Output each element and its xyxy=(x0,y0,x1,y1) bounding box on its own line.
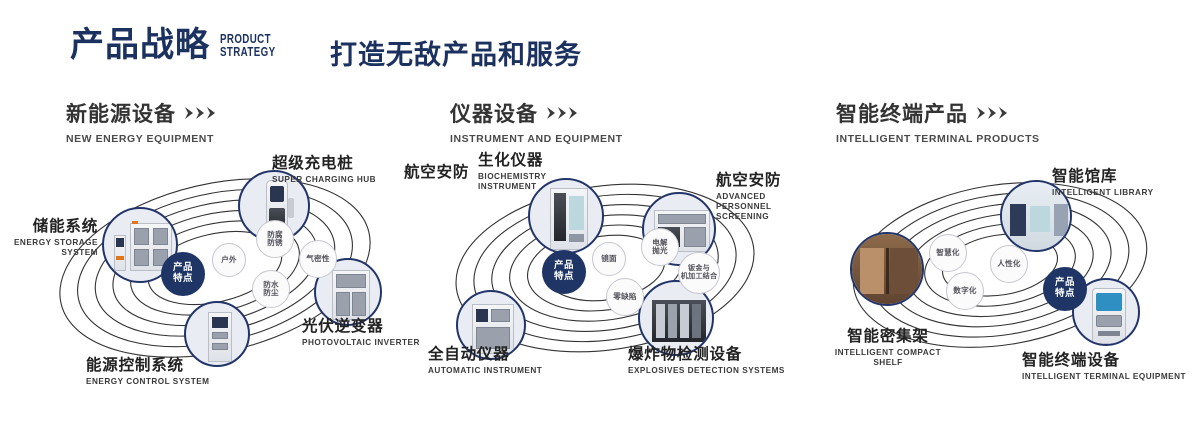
label-energy-control-system: 能源控制系统 ENERGY CONTROL SYSTEM xyxy=(86,357,209,387)
chevron-right-icon xyxy=(977,107,1011,119)
feature-bubble-smart[interactable]: 智慧化 xyxy=(929,234,967,272)
core-bubble-product-features[interactable]: 产品 特点 xyxy=(542,250,586,294)
label-intelligent-library: 智能馆库 INTELLIGENT LIBRARY xyxy=(1052,168,1154,198)
section-heading-new-energy: 新能源设备 NEW ENERGY EQUIPMENT xyxy=(66,98,219,145)
label-advanced-personnel-screening: 航空安防 ADVANCED PERSONNEL SCREENING xyxy=(716,172,820,223)
section-title-en: NEW ENERGY EQUIPMENT xyxy=(66,133,219,145)
intelligent-compact-shelf-photo xyxy=(852,234,922,304)
feature-bubble-waterproof-dustproof[interactable]: 防水 防尘 xyxy=(252,270,290,308)
page-title-en: PRODUCT STRATEGY xyxy=(220,31,275,59)
chevron-right-icon xyxy=(185,107,219,119)
chevron-right-icon xyxy=(547,107,581,119)
energy-control-system-photo xyxy=(186,303,248,365)
feature-bubble-humanized[interactable]: 人性化 xyxy=(990,245,1028,283)
label-biochemistry-instrument: 生化仪器 BIOCHEMISTRY INSTRUMENT xyxy=(478,152,546,192)
feature-bubble-mirror-finish[interactable]: 镜面 xyxy=(592,242,626,276)
section-title-cn: 智能终端产品 xyxy=(836,98,968,128)
section-heading-instrument: 仪器设备 INSTRUMENT AND EQUIPMENT xyxy=(450,98,623,145)
cluster-intelligent-terminal: 智能馆库 INTELLIGENT LIBRARY 智能密集架 INTELLIGE… xyxy=(810,150,1200,380)
section-heading-intelligent-terminal: 智能终端产品 INTELLIGENT TERMINAL PRODUCTS xyxy=(836,98,1040,145)
core-bubble-product-features[interactable]: 产品 特点 xyxy=(1043,267,1087,311)
label-intelligent-compact-shelf: 智能密集架 INTELLIGENT COMPACT SHELF xyxy=(818,328,958,368)
label-intelligent-terminal-equipment: 智能终端设备 INTELLIGENT TERMINAL EQUIPMENT xyxy=(1022,352,1186,382)
feature-bubble-anticorrosion[interactable]: 防腐 防锈 xyxy=(256,220,294,258)
page-header: 产品战略 PRODUCT STRATEGY xyxy=(70,28,291,62)
page-subtitle: 打造无敌产品和服务 xyxy=(330,33,582,72)
feature-bubble-airtightness[interactable]: 气密性 xyxy=(299,240,337,278)
label-energy-storage-system: 储能系统 ENERGY STORAGE SYSTEM xyxy=(0,218,98,258)
label-super-charging-hub: 超级充电桩 SUPER CHARGING HUB xyxy=(272,155,376,185)
feature-bubble-sheetmetal-machining[interactable]: 钣金与 机加工结合 xyxy=(678,252,720,294)
label-aviation-security-left: 航空安防 xyxy=(404,164,469,184)
section-title-en: INSTRUMENT AND EQUIPMENT xyxy=(450,133,623,145)
label-automatic-instrument: 全自动仪器 AUTOMATIC INSTRUMENT xyxy=(428,346,542,376)
section-title-cn: 仪器设备 xyxy=(450,98,538,128)
product-strategy-infographic: 产品战略 PRODUCT STRATEGY 打造无敌产品和服务 新能源设备 NE… xyxy=(0,0,1200,422)
section-title-cn: 新能源设备 xyxy=(66,98,176,128)
feature-bubble-zero-defect[interactable]: 零缺陷 xyxy=(606,278,644,316)
cluster-instrument: 航空安防 生化仪器 BIOCHEMISTRY INSTRUMENT 航空安防 A… xyxy=(420,150,820,380)
core-bubble-product-features[interactable]: 产品 特点 xyxy=(161,252,205,296)
feature-bubble-outdoor[interactable]: 户外 xyxy=(212,243,246,277)
feature-bubble-electropolishing[interactable]: 电解 抛光 xyxy=(641,228,679,266)
section-title-en: INTELLIGENT TERMINAL PRODUCTS xyxy=(836,133,1040,145)
page-title-cn: 产品战略 xyxy=(70,28,210,62)
cluster-new-energy: 储能系统 ENERGY STORAGE SYSTEM 超级充电桩 SUPER C… xyxy=(40,150,440,380)
feature-bubble-digital[interactable]: 数字化 xyxy=(946,272,984,310)
label-photovoltaic-inverter: 光伏逆变器 PHOTOVOLTAIC INVERTER xyxy=(302,318,420,348)
label-explosives-detection-systems: 爆炸物检测设备 EXPLOSIVES DETECTION SYSTEMS xyxy=(628,346,785,376)
node-intelligent-compact-shelf[interactable] xyxy=(850,232,924,306)
